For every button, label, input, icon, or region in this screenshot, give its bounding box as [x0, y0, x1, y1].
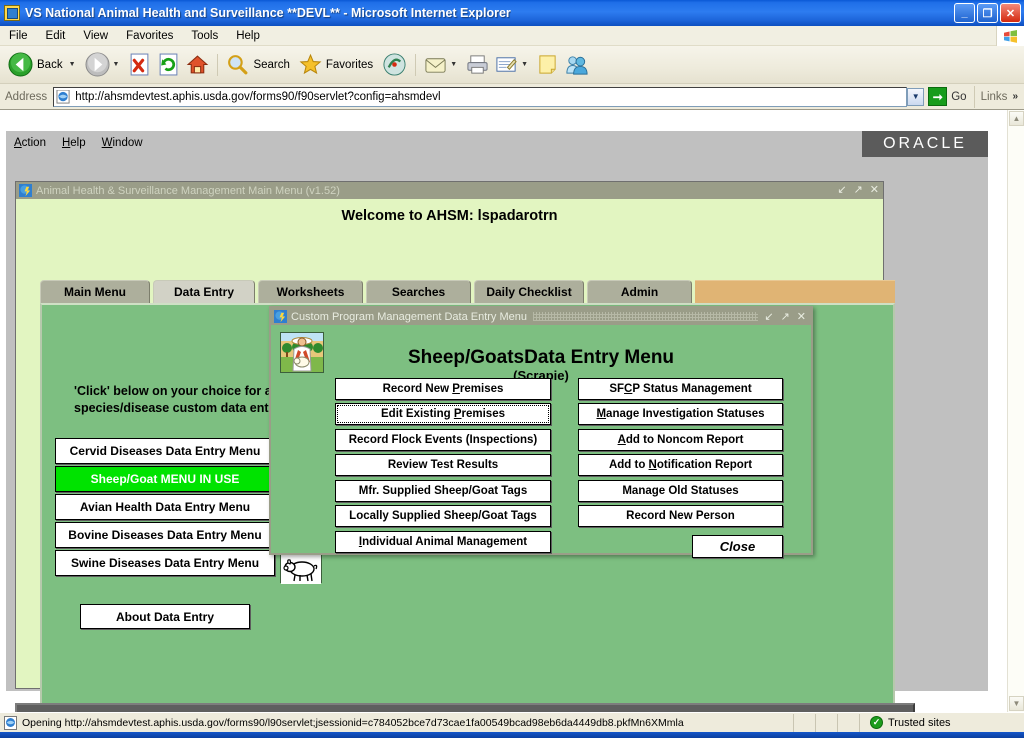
dialog-restore-icon[interactable]: ↙: [764, 310, 773, 324]
oracle-logo: ORACLE: [862, 131, 988, 157]
address-input[interactable]: http://ahsmdevtest.aphis.usda.gov/forms9…: [53, 87, 907, 107]
dialog-maximize-icon[interactable]: ↗: [781, 310, 790, 324]
button-manage-old-statuses[interactable]: Manage Old Statuses: [578, 480, 783, 502]
dialog-titlebar[interactable]: Custom Program Management Data Entry Men…: [271, 308, 811, 325]
button-edit-existing-premises[interactable]: Edit Existing Premises: [335, 403, 551, 425]
window-title: VS National Animal Health and Surveillan…: [25, 6, 511, 20]
species-button-swine[interactable]: Swine Diseases Data Entry Menu: [55, 550, 275, 576]
search-button[interactable]: Search: [223, 50, 295, 80]
menu-view[interactable]: View: [74, 28, 117, 44]
back-label: Back: [37, 59, 63, 71]
go-label: Go: [951, 91, 966, 103]
button-record-new-premises[interactable]: Record New Premises: [335, 378, 551, 400]
custom-program-dialog: Custom Program Management Data Entry Men…: [269, 306, 813, 555]
dialog-close-icon[interactable]: ✕: [797, 310, 806, 324]
minimize-button[interactable]: _: [954, 3, 975, 23]
welcome-text: Welcome to AHSM: lspadarotrn: [16, 208, 883, 224]
status-pane-3: [837, 714, 859, 732]
links-chevron-icon[interactable]: »: [1012, 91, 1018, 102]
search-label: Search: [253, 59, 289, 71]
menu-edit[interactable]: Edit: [37, 28, 75, 44]
messenger-button[interactable]: [561, 50, 592, 80]
toolbar-separator-2: [415, 54, 416, 76]
about-data-entry-button[interactable]: About Data Entry: [80, 604, 250, 629]
trusted-sites-check-icon: ✓: [870, 716, 883, 729]
status-message: Opening http://ahsmdevtest.aphis.usda.go…: [22, 717, 793, 729]
mail-button[interactable]: ▼: [421, 50, 463, 80]
go-button[interactable]: ➞ Go: [925, 87, 973, 106]
close-button[interactable]: ✕: [1000, 3, 1021, 23]
ahsm-window-titlebar: Animal Health & Surveillance Management …: [16, 182, 883, 199]
favorites-label: Favorites: [326, 59, 373, 71]
ahsm-maximize-icon[interactable]: ↗: [854, 183, 863, 197]
dialog-heading: Sheep/GoatsData Entry Menu: [271, 347, 811, 369]
browser-toolbar: Back ▼ ▼ Search Favorites: [0, 46, 1024, 84]
status-pane-2: [815, 714, 837, 732]
button-record-new-person[interactable]: Record New Person: [578, 505, 783, 527]
button-review-test-results[interactable]: Review Test Results: [335, 454, 551, 476]
edit-button[interactable]: ▼: [492, 50, 534, 80]
security-zone-label: Trusted sites: [888, 717, 951, 729]
ahsm-window-controls: ↙ ↗ ✕: [837, 183, 879, 197]
forms-menu-action[interactable]: Action: [6, 137, 54, 149]
forms-menu-help[interactable]: Help: [54, 137, 94, 149]
go-arrow-icon: ➞: [928, 87, 947, 106]
dialog-grip: [533, 312, 758, 321]
security-zone[interactable]: ✓ Trusted sites: [859, 714, 1024, 732]
tab-daily-checklist[interactable]: Daily Checklist: [474, 280, 584, 303]
dialog-window-controls: ↙ ↗ ✕: [764, 310, 811, 324]
vertical-scrollbar[interactable]: ▲ ▼: [1007, 110, 1024, 712]
page-icon: [56, 90, 71, 104]
media-button[interactable]: [379, 50, 410, 80]
dialog-app-icon: [274, 310, 287, 323]
toolbar-separator: [217, 54, 218, 76]
windows-flag-icon[interactable]: [996, 26, 1024, 46]
dialog-title: Custom Program Management Data Entry Men…: [291, 311, 527, 323]
button-locally-supplied-tags[interactable]: Locally Supplied Sheep/Goat Tags: [335, 505, 551, 527]
button-add-to-noncom-report[interactable]: Add to Noncom Report: [578, 429, 783, 451]
tab-admin[interactable]: Admin: [587, 280, 692, 303]
oracle-forms-applet: Action Help Window ORACLE Animal Health …: [6, 131, 990, 691]
button-manage-investigation-statuses[interactable]: Manage Investigation Statuses: [578, 403, 783, 425]
tab-filler: [695, 280, 895, 303]
status-pane-1: [793, 714, 815, 732]
tab-worksheets[interactable]: Worksheets: [258, 280, 363, 303]
favorites-button[interactable]: Favorites: [296, 50, 379, 80]
back-dropdown-icon[interactable]: ▼: [69, 61, 76, 68]
button-record-flock-events[interactable]: Record Flock Events (Inspections): [335, 429, 551, 451]
home-button[interactable]: [183, 50, 212, 80]
address-label: Address: [0, 91, 53, 103]
address-bar: Address http://ahsmdevtest.aphis.usda.go…: [0, 84, 1024, 110]
species-button-sheep-goat[interactable]: Sheep/Goat MENU IN USE: [55, 466, 275, 492]
forms-menu-bar: Action Help Window ORACLE: [6, 131, 988, 155]
button-mfr-supplied-tags[interactable]: Mfr. Supplied Sheep/Goat Tags: [335, 480, 551, 502]
maximize-button[interactable]: ❐: [977, 3, 998, 23]
edit-dropdown-icon[interactable]: ▼: [521, 61, 528, 68]
refresh-button[interactable]: [154, 50, 183, 80]
browser-status-bar: Opening http://ahsmdevtest.aphis.usda.go…: [0, 712, 1024, 732]
button-add-to-notification-report[interactable]: Add to Notification Report: [578, 454, 783, 476]
ahsm-close-icon[interactable]: ✕: [870, 183, 879, 197]
tab-strip: Main Menu Data Entry Worksheets Searches…: [40, 280, 895, 303]
species-button-cervid[interactable]: Cervid Diseases Data Entry Menu: [55, 438, 275, 464]
mail-dropdown-icon[interactable]: ▼: [450, 61, 457, 68]
links-bar[interactable]: Links »: [974, 86, 1024, 108]
farmer-with-sheep-icon: [280, 332, 324, 373]
browser-menu-bar: File Edit View Favorites Tools Help: [0, 26, 1024, 46]
button-sfcp-status-management[interactable]: SFCP Status Management: [578, 378, 783, 400]
print-button[interactable]: [463, 50, 492, 80]
stop-button[interactable]: [125, 50, 154, 80]
species-button-avian[interactable]: Avian Health Data Entry Menu: [55, 494, 275, 520]
dialog-close-button[interactable]: Close: [692, 535, 783, 558]
address-dropdown-icon[interactable]: ▼: [907, 88, 924, 106]
forms-status-bar: Record: 1/1 ... <OSC>: [15, 703, 915, 712]
menu-tools[interactable]: Tools: [182, 28, 227, 44]
menu-help[interactable]: Help: [227, 28, 269, 44]
button-individual-animal-management[interactable]: Individual Animal Management: [335, 531, 551, 553]
status-page-icon: [4, 716, 18, 730]
page-canvas: ▲ ▼ Action Help Window ORACLE Animal: [0, 110, 1024, 712]
window-controls: _ ❐ ✕: [954, 3, 1021, 23]
ahsm-window-title: Animal Health & Surveillance Management …: [36, 185, 340, 197]
back-button[interactable]: Back ▼: [5, 50, 82, 80]
links-label: Links: [981, 91, 1008, 103]
species-button-bovine[interactable]: Bovine Diseases Data Entry Menu: [55, 522, 275, 548]
scroll-up-icon[interactable]: ▲: [1009, 111, 1024, 126]
forward-button[interactable]: ▼: [82, 50, 126, 80]
ie-document-icon: [4, 5, 20, 21]
forward-dropdown-icon[interactable]: ▼: [113, 61, 120, 68]
forms-menu-window[interactable]: Window: [94, 137, 151, 149]
ahsm-restore-icon[interactable]: ↙: [837, 183, 846, 197]
menu-favorites[interactable]: Favorites: [117, 28, 182, 44]
scroll-down-icon[interactable]: ▼: [1009, 696, 1024, 711]
ahsm-app-icon: [19, 184, 32, 197]
menu-file[interactable]: File: [0, 28, 37, 44]
tab-searches[interactable]: Searches: [366, 280, 471, 303]
pig-icon: [281, 555, 321, 584]
tab-main-menu[interactable]: Main Menu: [40, 280, 150, 303]
notes-button[interactable]: [534, 50, 561, 80]
browser-window: VS National Animal Health and Surveillan…: [0, 0, 1024, 738]
tab-data-entry[interactable]: Data Entry: [153, 280, 255, 303]
address-url-text: http://ahsmdevtest.aphis.usda.gov/forms9…: [75, 91, 440, 103]
taskbar-edge: [0, 732, 1024, 738]
title-bar: VS National Animal Health and Surveillan…: [0, 0, 1024, 26]
